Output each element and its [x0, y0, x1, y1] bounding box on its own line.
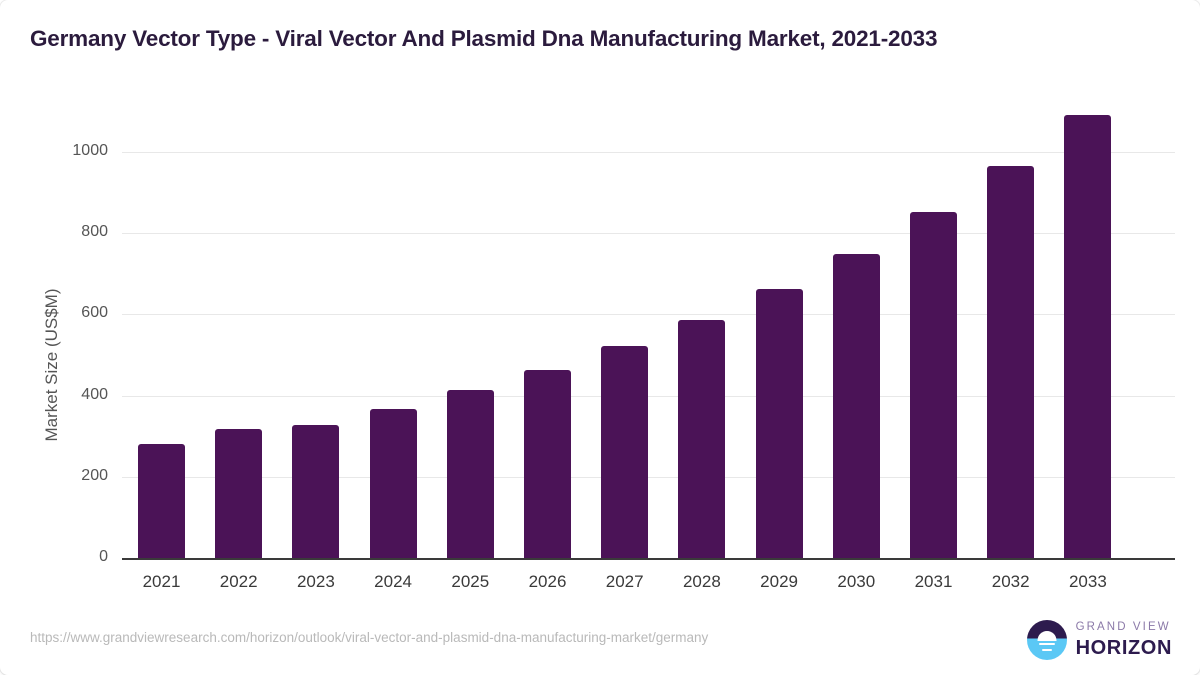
bar-2021[interactable]	[138, 444, 185, 558]
horizon-line-upper	[1039, 643, 1055, 645]
y-axis-tick-label: 1000	[0, 142, 108, 160]
logo-bottom-text: HORIZON	[1076, 638, 1172, 658]
bar-2027[interactable]	[601, 346, 648, 558]
horizon-line-lower	[1042, 649, 1052, 651]
y-axis-tick-label: 0	[0, 548, 108, 566]
bar-2031[interactable]	[910, 212, 957, 558]
bar-2022[interactable]	[215, 429, 262, 558]
bar-2030[interactable]	[833, 254, 880, 559]
bar-2026[interactable]	[524, 370, 571, 558]
bar-2023[interactable]	[292, 425, 339, 558]
y-axis-tick-label: 800	[0, 223, 108, 241]
logo-wordmark: GRAND VIEW HORIZON	[1076, 622, 1172, 658]
chart-page: Germany Vector Type - Viral Vector And P…	[0, 0, 1200, 675]
gridline	[122, 152, 1175, 153]
bar-2029[interactable]	[756, 289, 803, 558]
y-axis-title: Market Size (US$M)	[42, 255, 62, 475]
grand-view-horizon-logo[interactable]: GRAND VIEW HORIZON	[1027, 620, 1172, 660]
plot-area: 02004006008001000 Market Size (US$M) 202…	[0, 0, 1200, 675]
sun-dome-shape	[1037, 631, 1056, 641]
bar-2033[interactable]	[1064, 115, 1111, 558]
horizon-sun-circle-icon	[1027, 620, 1067, 660]
bar-2028[interactable]	[678, 320, 725, 558]
bar-2024[interactable]	[370, 409, 417, 558]
x-axis-line	[122, 558, 1175, 560]
bar-2025[interactable]	[447, 390, 494, 558]
x-axis-tick-label-2033: 2033	[1043, 572, 1133, 592]
source-url[interactable]: https://www.grandviewresearch.com/horizo…	[30, 630, 708, 645]
bar-2032[interactable]	[987, 166, 1034, 558]
logo-top-text: GRAND VIEW	[1076, 622, 1172, 634]
